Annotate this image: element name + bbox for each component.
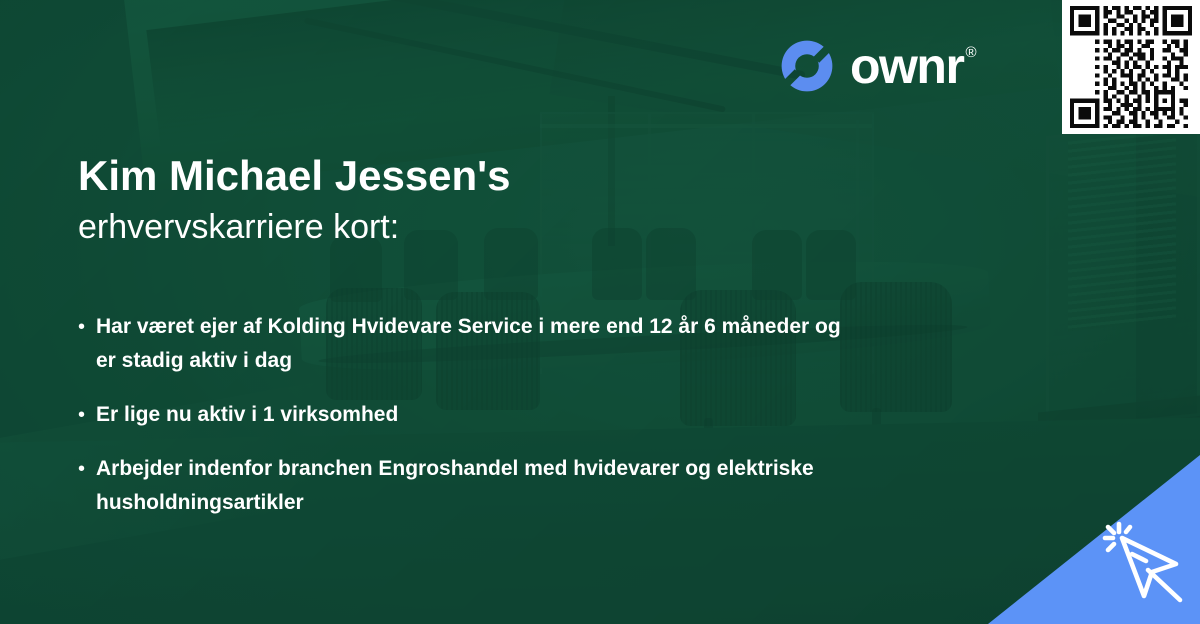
list-item: • Arbejder indenfor branchen Engroshande… xyxy=(78,452,978,520)
blue-corner-triangle xyxy=(988,455,1200,624)
ownr-wordmark-text: ownr xyxy=(850,41,963,91)
list-item: • Har været ejer af Kolding Hvidevare Se… xyxy=(78,310,978,378)
bullet-dot-icon: • xyxy=(78,398,96,432)
page-title: Kim Michael Jessen's erhvervskarriere ko… xyxy=(78,152,958,249)
list-item-text: Er lige nu aktiv i 1 virksomhed xyxy=(96,398,398,432)
bullet-dot-icon: • xyxy=(78,452,96,486)
qr-code-panel[interactable] xyxy=(1062,0,1200,134)
ownr-circular-swirl-logo-icon xyxy=(778,37,836,95)
page-title-line1: Kim Michael Jessen's xyxy=(78,152,958,201)
ownr-wordmark: ownr ® xyxy=(850,41,977,91)
list-item-text: Har været ejer af Kolding Hvidevare Serv… xyxy=(96,310,856,378)
list-item-text: Arbejder indenfor branchen Engroshandel … xyxy=(96,452,856,520)
card-content: ownr ® xyxy=(0,0,1200,624)
ownr-logo[interactable]: ownr ® xyxy=(778,36,977,96)
bullet-dot-icon: • xyxy=(78,310,96,344)
click-cursor-icon xyxy=(1096,516,1192,612)
qr-code xyxy=(1070,6,1192,128)
business-career-card: ownr ® xyxy=(0,0,1200,624)
page-title-line2: erhvervskarriere kort: xyxy=(78,205,958,249)
list-item: • Er lige nu aktiv i 1 virksomhed xyxy=(78,398,978,432)
career-facts-list: • Har været ejer af Kolding Hvidevare Se… xyxy=(78,310,978,520)
registered-trademark-icon: ® xyxy=(965,45,976,60)
